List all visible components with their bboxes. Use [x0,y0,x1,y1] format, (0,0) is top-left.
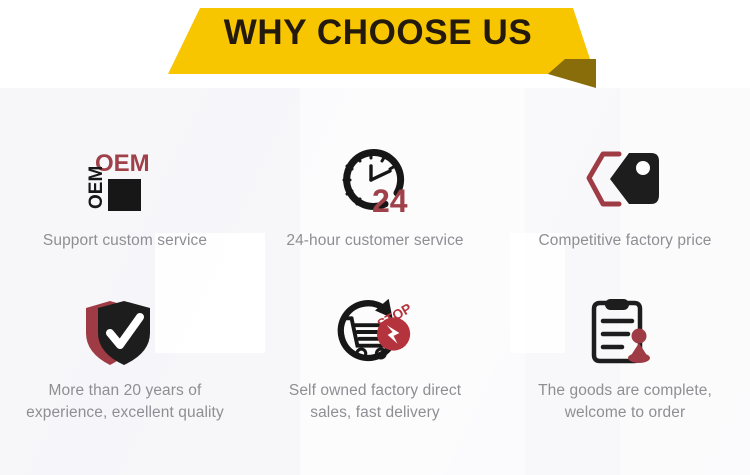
price-tag-icon-svg [585,148,665,212]
feature-item-custom-service: OEM OEM Support custom service [0,88,250,280]
cart-wheel-left [357,349,366,358]
feature-item-direct-sales: STOP Self owned factory direct sales, fa… [250,280,500,475]
oem-logo-icon: OEM OEM [82,144,168,216]
feature-item-goods-complete: The goods are complete, welcome to order [500,280,750,475]
feature-item-experience: More than 20 years of experience, excell… [0,280,250,475]
price-tag-front [610,153,659,204]
clipboard-stamp-icon [582,296,668,368]
clock-24-hour-icon: 24 [332,144,418,216]
feature-caption-line1: Self owned factory direct [289,382,461,399]
clipboard-stamp-icon-svg [586,295,664,369]
feature-caption: 24-hour customer service [286,230,463,252]
shopping-cart-stop-icon-svg: STOP [332,294,418,370]
clock-hands [371,166,390,180]
shield-check-icon-svg [86,295,164,369]
clipboard-lines [603,321,632,347]
feature-caption: The goods are complete, welcome to order [538,380,712,424]
page-title: WHY CHOOSE US [0,11,750,55]
clipboard-clip [605,299,629,310]
stamp-knob [632,329,647,344]
feature-caption: Self owned factory direct sales, fast de… [289,380,461,424]
clock-24-hour-icon-svg: 24 [335,144,415,216]
features-panel: OEM OEM Support custom service [0,88,750,475]
feature-caption-line2: sales, fast delivery [310,404,440,421]
stamp-base [628,353,650,363]
feature-caption: Competitive factory price [538,230,711,252]
price-tag-hole [636,161,650,175]
oem-side-text-group: OEM [86,166,107,209]
price-tag-icon [582,144,668,216]
feature-caption-line1: More than 20 years of [49,382,202,399]
oem-logo-icon-svg: OEM OEM [82,146,168,214]
feature-caption: Support custom service [43,230,207,252]
oem-square [108,179,141,211]
shield-check-icon [82,296,168,368]
shopping-cart-stop-icon: STOP [332,296,418,368]
feature-caption-line1: The goods are complete, [538,382,712,399]
feature-caption-line2: experience, excellent quality [26,404,224,421]
feature-item-24-hour-service: 24 24-hour customer service [250,88,500,280]
clock-24-label: 24 [372,183,408,216]
oem-side-text: OEM [86,166,107,209]
feature-item-factory-price: Competitive factory price [500,88,750,280]
feature-caption-line2: welcome to order [565,404,685,421]
features-grid: OEM OEM Support custom service [0,88,750,475]
banner: WHY CHOOSE US [0,0,750,88]
feature-caption: More than 20 years of experience, excell… [26,380,224,424]
